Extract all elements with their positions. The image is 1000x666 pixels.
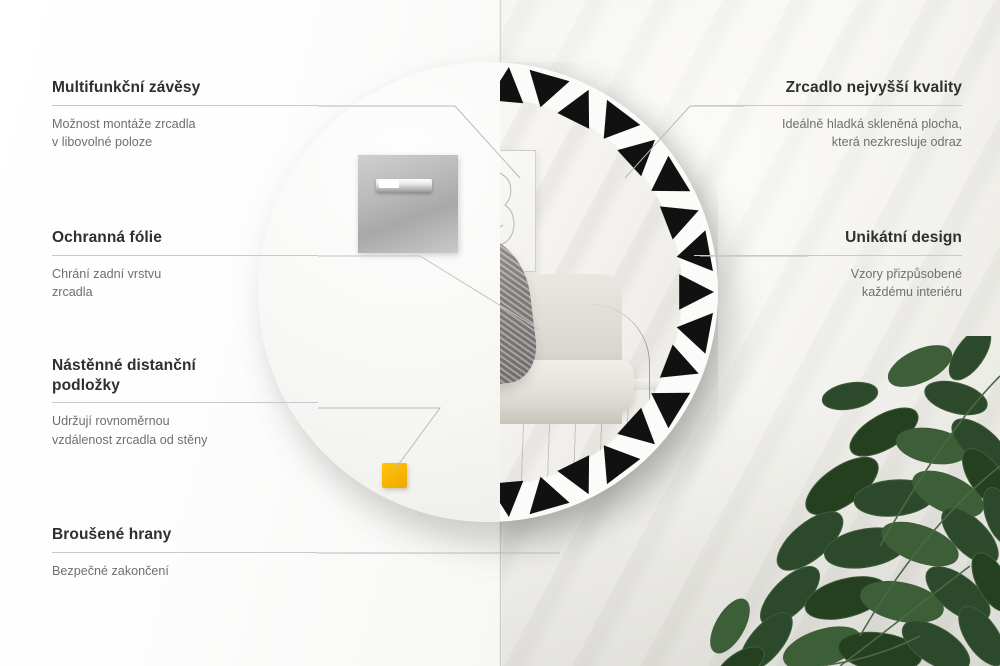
callout-title: Broušené hrany [52, 525, 318, 545]
callout-body-line1: Udržují rovnoměrnou [52, 414, 170, 428]
pattern-triangle [557, 455, 589, 494]
callout-multifunkcni-zavesy: Multifunkční závěsy Možnost montáže zrca… [52, 78, 318, 152]
callout-zrcadlo-nejvyssi-kvality: Zrcadlo nejvyšší kvality Ideálně hladká … [694, 78, 962, 152]
callout-body-line1: Možnost montáže zrcadla [52, 117, 196, 131]
callout-body-line2: v libovolné poloze [52, 135, 152, 149]
callout-title: Zrcadlo nejvyšší kvality [694, 78, 962, 98]
callout-body-line2: každému interiéru [862, 285, 962, 299]
callout-body-line2: vzdálenost zrcadla od stěny [52, 433, 207, 447]
callout-body: Ideálně hladká skleněná plocha, která ne… [694, 115, 962, 152]
callout-body-line2: která nezkresluje odraz [832, 135, 962, 149]
callout-title: Unikátní design [694, 228, 962, 248]
callout-unikatni-design: Unikátní design Vzory přizpůsobené každé… [694, 228, 962, 302]
callout-title-line1: Nástěnné distanční [52, 357, 196, 374]
pattern-triangle [651, 156, 690, 192]
spacer-pad [382, 463, 407, 488]
callout-body-line2: zrcadla [52, 285, 93, 299]
callout-body: Bezpečné zakončení [52, 562, 318, 581]
pattern-triangle [660, 206, 699, 239]
pattern-triangle [530, 70, 570, 108]
callout-rule [52, 105, 318, 106]
callout-body: Možnost montáže zrcadla v libovolné polo… [52, 115, 318, 152]
callout-body-line1: Chrání zadní vrstvu [52, 267, 161, 281]
pattern-triangle [530, 477, 570, 515]
callout-body: Chrání zadní vrstvu zrcadla [52, 265, 318, 302]
callout-title: Ochranná fólie [52, 228, 318, 248]
pattern-triangle [604, 445, 641, 484]
callout-nastenne-distancni-podlozky: Nástěnné distanční podložky Udržují rovn… [52, 356, 318, 449]
pattern-triangle [651, 393, 690, 429]
callout-ochranna-folie: Ochranná fólie Chrání zadní vrstvu zrcad… [52, 228, 318, 302]
callout-brousene-hrany: Broušené hrany Bezpečné zakončení [52, 525, 318, 580]
pattern-triangle [617, 140, 655, 177]
callout-body: Vzory přizpůsobené každému interiéru [694, 265, 962, 302]
callout-body: Udržují rovnoměrnou vzdálenost zrcadla o… [52, 412, 318, 449]
pattern-triangle [557, 90, 589, 129]
callout-body-line1: Bezpečné zakončení [52, 564, 169, 578]
callout-title-line2: podložky [52, 377, 120, 394]
callout-body-line1: Ideálně hladká skleněná plocha, [782, 117, 962, 131]
callout-rule [694, 255, 962, 256]
callout-rule [52, 255, 318, 256]
callout-rule [694, 105, 962, 106]
callout-rule [52, 552, 318, 553]
pattern-triangle [617, 408, 655, 445]
callout-rule [52, 402, 318, 403]
pattern-triangle [604, 100, 641, 139]
hanger-plate [358, 155, 458, 253]
callout-title: Nástěnné distanční podložky [52, 356, 318, 395]
pattern-triangle [677, 313, 713, 354]
mirror-product [258, 62, 718, 582]
pattern-triangle [660, 345, 699, 378]
callout-body-line1: Vzory přizpůsobené [851, 267, 962, 281]
infographic-canvas: Multifunkční závěsy Možnost montáže zrca… [0, 0, 1000, 666]
hanger-slot [376, 179, 432, 192]
callout-title: Multifunkční závěsy [52, 78, 318, 98]
